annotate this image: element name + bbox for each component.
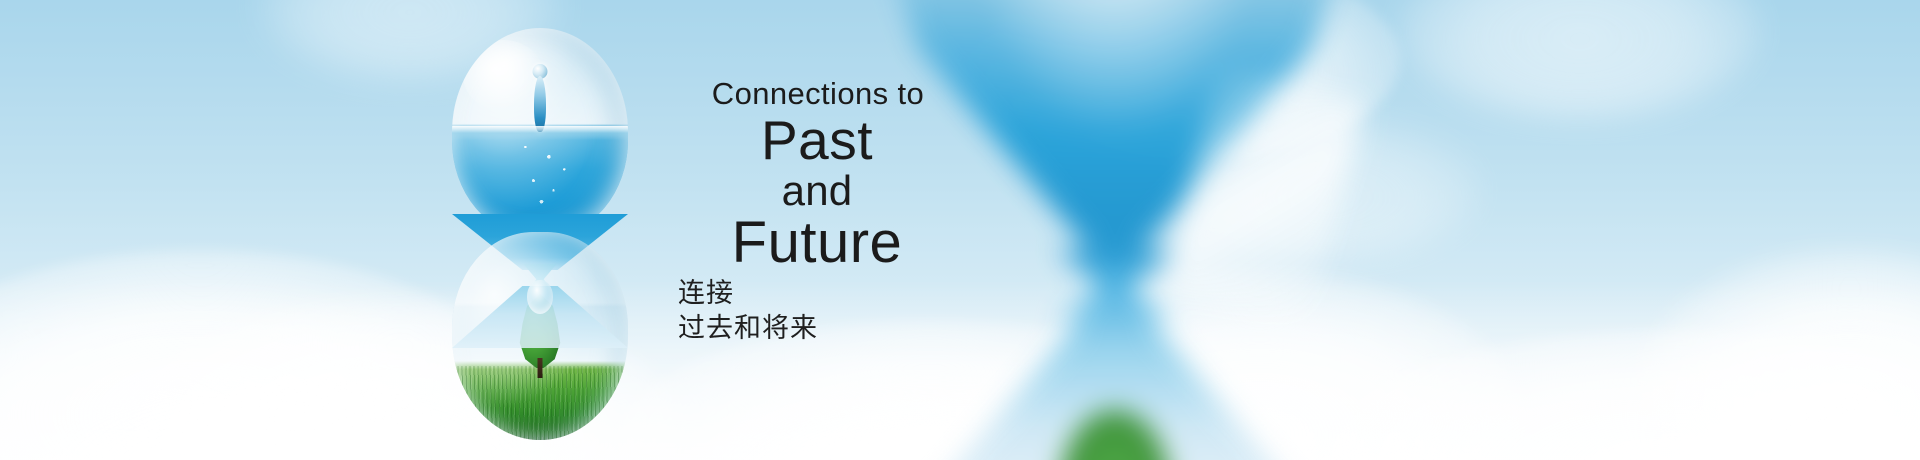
- hero-subheadline-chinese: 连接 过去和将来: [672, 276, 962, 345]
- headline-line-future: Future: [672, 214, 962, 272]
- subheadline-line-1: 连接: [678, 276, 962, 311]
- water-bubbles: [512, 140, 579, 210]
- hourglass-top-bulb: [452, 28, 628, 236]
- tree-trunk: [538, 358, 543, 378]
- hourglass-icon: [452, 28, 628, 440]
- water-surface-line: [452, 126, 628, 140]
- water-splash-icon: [534, 76, 546, 132]
- cloud-shape: [1400, 0, 1760, 120]
- water-droplet-icon: [533, 64, 548, 79]
- headline-line-connections: Connections to: [674, 78, 962, 109]
- headline-line-and: and: [672, 170, 962, 212]
- headline-line-past: Past: [672, 113, 962, 168]
- subheadline-line-2: 过去和将来: [678, 311, 962, 346]
- falling-water-drop-icon: [527, 280, 553, 314]
- banner-hero: Connections to Past and Future 连接 过去和将来: [0, 0, 1920, 460]
- hero-headline: Connections to Past and Future 连接 过去和将来: [672, 78, 962, 345]
